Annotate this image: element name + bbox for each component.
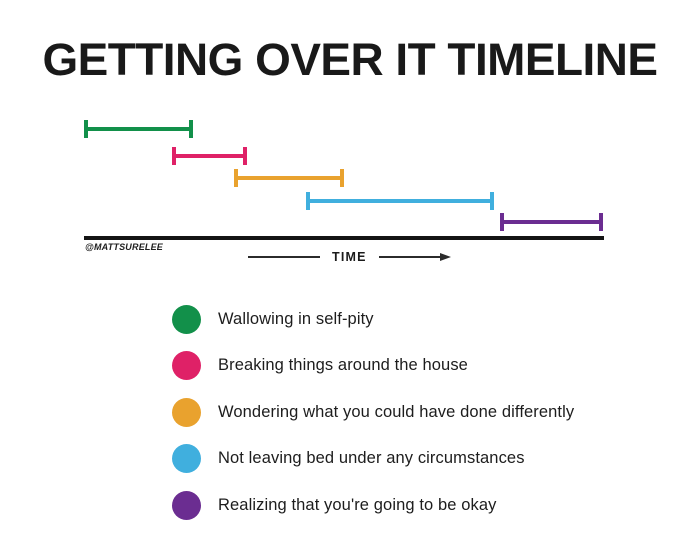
arrow-shaft xyxy=(379,256,441,257)
bar-stem xyxy=(306,199,494,203)
time-axis-label-row: TIME xyxy=(248,250,451,264)
timeline-bar-wallowing xyxy=(84,127,193,131)
bar-stem xyxy=(500,220,603,224)
timeline-bar-breaking xyxy=(172,154,247,158)
circle-icon xyxy=(172,305,201,334)
bar-cap-right xyxy=(189,120,193,138)
bar-stem xyxy=(172,154,247,158)
legend-item-label: Not leaving bed under any circumstances xyxy=(218,449,525,468)
circle-icon xyxy=(172,491,201,520)
circle-icon xyxy=(172,444,201,473)
timeline-bar-wondering xyxy=(234,176,344,180)
bar-cap-left xyxy=(500,213,504,231)
legend-item-breaking[interactable]: Breaking things around the house xyxy=(172,343,672,390)
bar-cap-left xyxy=(306,192,310,210)
chart-legend: Wallowing in self-pity Breaking things a… xyxy=(172,296,672,529)
infographic-canvas: GETTING OVER IT TIMELINE xyxy=(0,0,700,560)
bar-cap-left xyxy=(234,169,238,187)
time-axis-line xyxy=(84,236,604,240)
arrow-head xyxy=(440,253,451,261)
legend-item-realizing[interactable]: Realizing that you're going to be okay xyxy=(172,482,672,529)
time-rule-left-icon xyxy=(248,256,320,257)
bar-stem xyxy=(84,127,193,131)
attribution-handle: @MATTSURELEE xyxy=(85,242,163,252)
legend-item-notleavingbed[interactable]: Not leaving bed under any circumstances xyxy=(172,436,672,483)
time-arrow-right-icon xyxy=(379,252,451,262)
bar-cap-right xyxy=(490,192,494,210)
timeline-bar-realizing xyxy=(500,220,603,224)
circle-icon xyxy=(172,351,201,380)
timeline-bar-notleavingbed xyxy=(306,199,494,203)
bar-cap-right xyxy=(243,147,247,165)
legend-item-label: Wallowing in self-pity xyxy=(218,310,374,329)
legend-item-wondering[interactable]: Wondering what you could have done diffe… xyxy=(172,389,672,436)
legend-item-label: Wondering what you could have done diffe… xyxy=(218,403,574,422)
time-axis-label: TIME xyxy=(332,250,367,264)
bar-cap-right xyxy=(599,213,603,231)
legend-item-label: Realizing that you're going to be okay xyxy=(218,496,496,515)
bar-cap-left xyxy=(84,120,88,138)
bar-cap-left xyxy=(172,147,176,165)
bar-cap-right xyxy=(340,169,344,187)
timeline-chart: @MATTSURELEE TIME xyxy=(0,0,700,280)
legend-item-label: Breaking things around the house xyxy=(218,356,468,375)
circle-icon xyxy=(172,398,201,427)
bar-stem xyxy=(234,176,344,180)
legend-item-wallowing[interactable]: Wallowing in self-pity xyxy=(172,296,672,343)
